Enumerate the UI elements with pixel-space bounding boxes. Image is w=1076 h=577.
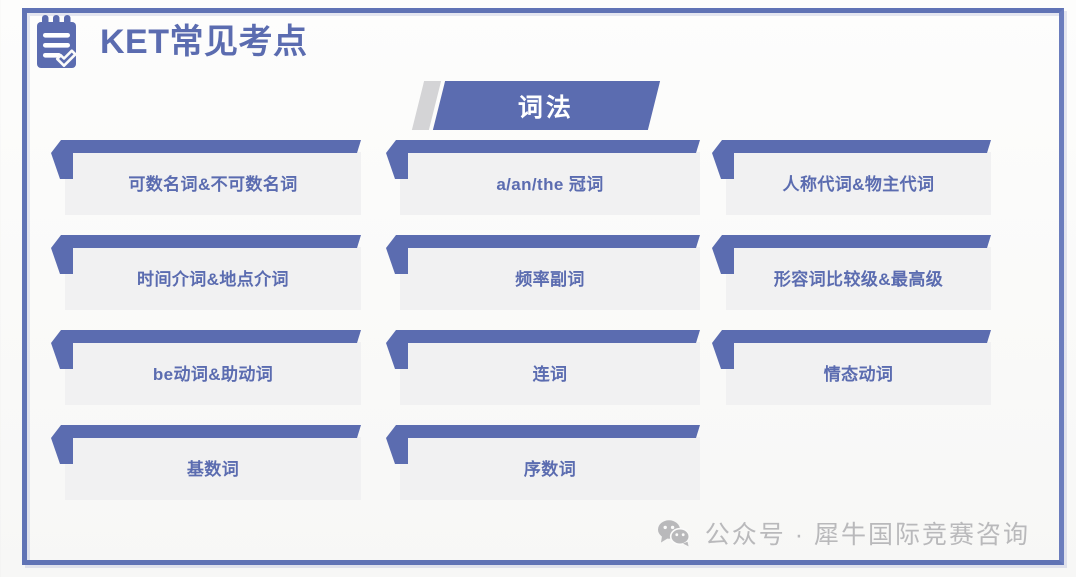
header: KET常见考点	[30, 14, 308, 70]
topic-row: be动词&助动词 连词 情态动词	[0, 330, 1076, 425]
topic-card[interactable]: 频率副词	[400, 247, 700, 310]
topic-card[interactable]: 形容词比较级&最高级	[726, 247, 991, 310]
topic-card[interactable]: 可数名词&不可数名词	[65, 152, 361, 215]
topic-card[interactable]: 基数词	[65, 437, 361, 500]
topic-card-label: 形容词比较级&最高级	[774, 265, 943, 292]
card-tab	[386, 425, 700, 438]
topic-row: 基数词 序数词	[0, 425, 1076, 520]
card-tab	[386, 235, 700, 248]
card-tab	[386, 330, 700, 343]
poster-page: KET常见考点 词法 可数名词&不可数名词 a/an/the 冠词 人	[0, 0, 1076, 577]
topic-card[interactable]: a/an/the 冠词	[400, 152, 700, 215]
card-tab	[51, 330, 361, 343]
topic-card[interactable]: 人称代词&物主代词	[726, 152, 991, 215]
topic-card-label: 情态动词	[824, 360, 894, 387]
topic-card-label: 基数词	[187, 455, 239, 482]
topic-card-label: be动词&助动词	[153, 360, 273, 387]
card-tab	[712, 140, 991, 153]
card-notch	[51, 248, 73, 274]
card-notch	[51, 153, 73, 179]
watermark-text: 公众号 · 犀牛国际竞赛咨询	[705, 515, 1030, 551]
topic-card-label: 频率副词	[515, 265, 585, 292]
topic-row: 时间介词&地点介词 频率副词 形容词比较级&最高级	[0, 235, 1076, 330]
card-notch	[712, 153, 734, 179]
topic-card[interactable]: 情态动词	[726, 342, 991, 405]
card-notch	[51, 343, 73, 369]
card-notch	[386, 343, 408, 369]
topic-card[interactable]: 连词	[400, 342, 700, 405]
topic-card-label: 连词	[533, 360, 568, 387]
card-notch	[712, 248, 734, 274]
card-notch	[386, 438, 408, 464]
card-tab	[51, 425, 361, 438]
topic-card[interactable]: 时间介词&地点介词	[65, 247, 361, 310]
topic-card[interactable]: be动词&助动词	[65, 342, 361, 405]
topic-card-label: a/an/the 冠词	[496, 170, 603, 197]
topic-grid: 可数名词&不可数名词 a/an/the 冠词 人称代词&物主代词 时间介词&地点…	[0, 140, 1076, 520]
card-tab	[712, 235, 991, 248]
card-tab	[712, 330, 991, 343]
card-tab	[51, 140, 361, 153]
banner-label: 词法	[518, 88, 574, 124]
topic-card-label: 可数名词&不可数名词	[128, 170, 297, 197]
notepad-check-icon	[34, 14, 82, 70]
topic-card-label: 时间介词&地点介词	[137, 265, 289, 292]
card-notch	[51, 438, 73, 464]
card-tab	[51, 235, 361, 248]
card-tab	[386, 140, 700, 153]
topic-card[interactable]: 序数词	[400, 437, 700, 500]
wechat-icon	[657, 519, 691, 547]
card-notch	[386, 153, 408, 179]
topic-row: 可数名词&不可数名词 a/an/the 冠词 人称代词&物主代词	[0, 140, 1076, 235]
topic-card-label: 序数词	[524, 455, 576, 482]
watermark: 公众号 · 犀牛国际竞赛咨询	[657, 515, 1030, 551]
topic-card-label: 人称代词&物主代词	[783, 170, 935, 197]
card-notch	[712, 343, 734, 369]
section-banner: 词法	[418, 81, 654, 130]
banner-body: 词法	[433, 81, 660, 130]
card-notch	[386, 248, 408, 274]
page-title: KET常见考点	[100, 25, 308, 59]
